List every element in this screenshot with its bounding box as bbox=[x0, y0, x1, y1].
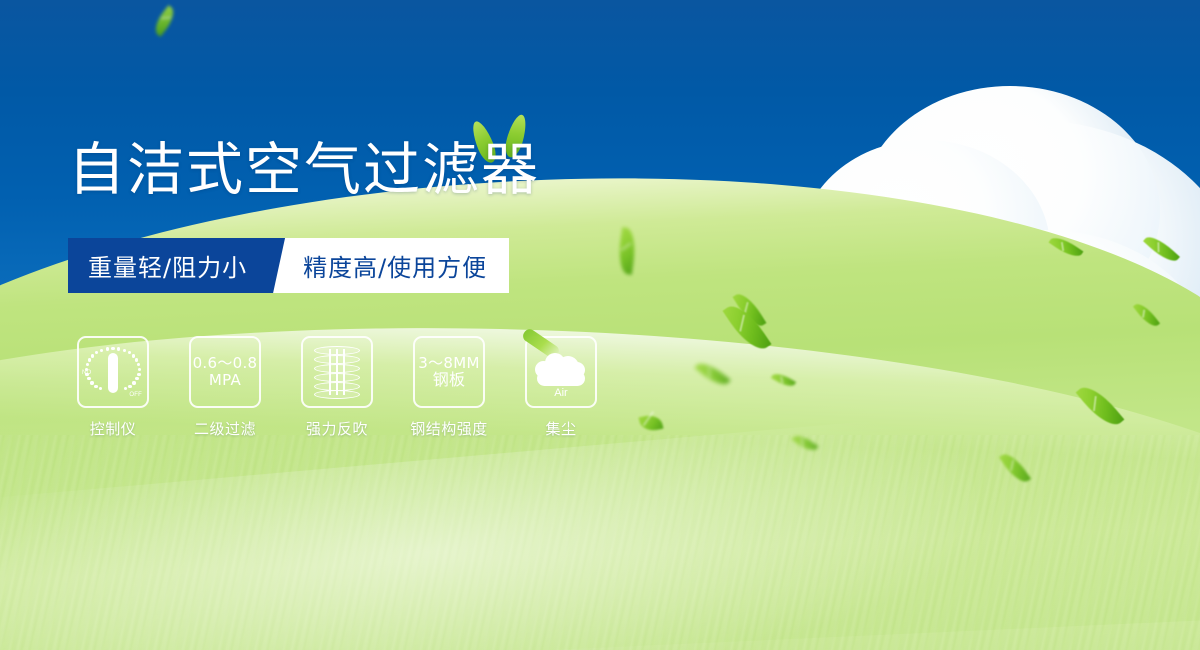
page-title: 自洁式空气过滤器 bbox=[68, 142, 540, 199]
feature-caption: 钢结构强度 bbox=[410, 418, 488, 439]
air-cloud-icon: Air bbox=[533, 349, 589, 395]
pressure-value-line2: MPA bbox=[209, 372, 241, 389]
subtitle-divider bbox=[273, 238, 299, 293]
feature-icon-box: NO OFF bbox=[77, 336, 149, 408]
feature-caption: 强力反吹 bbox=[306, 418, 368, 439]
feature-icon-box bbox=[301, 336, 373, 408]
subtitle-bar: 重量轻/阻力小 精度高/使用方便 bbox=[68, 238, 509, 293]
feature-icon-box: Air bbox=[525, 336, 597, 408]
subtitle-right: 精度高/使用方便 bbox=[299, 238, 509, 293]
feature-item-controller: NO OFF 控制仪 bbox=[68, 336, 158, 439]
gauge-icon: NO OFF bbox=[83, 343, 143, 401]
pressure-value-line1: 0.6～0.8 bbox=[193, 355, 258, 372]
feature-caption: 二级过滤 bbox=[194, 418, 256, 439]
cloud-base bbox=[537, 371, 585, 386]
feature-item-pressure: 0.6～0.8 MPA 二级过滤 bbox=[180, 336, 270, 439]
air-label: Air bbox=[533, 387, 589, 399]
product-banner: 自洁式空气过滤器 重量轻/阻力小 精度高/使用方便 bbox=[0, 0, 1200, 650]
gauge-label-no: NO bbox=[82, 370, 91, 376]
feature-item-steel: 3～8MM 钢板 钢结构强度 bbox=[404, 336, 494, 439]
steel-value-line1: 3～8MM bbox=[418, 355, 479, 372]
filter-stack-icon bbox=[314, 346, 360, 398]
feature-item-dust: Air 集尘 bbox=[516, 336, 606, 439]
feature-icon-box: 3～8MM 钢板 bbox=[413, 336, 485, 408]
feature-caption: 集尘 bbox=[545, 418, 576, 439]
steel-value-line2: 钢板 bbox=[433, 371, 466, 389]
subtitle-left: 重量轻/阻力小 bbox=[68, 238, 273, 293]
feature-icon-box: 0.6～0.8 MPA bbox=[189, 336, 261, 408]
feature-list: NO OFF 控制仪 0.6～0.8 MPA 二级过滤 bbox=[68, 336, 606, 439]
gauge-label-off: OFF bbox=[129, 392, 142, 398]
feature-caption: 控制仪 bbox=[90, 418, 137, 439]
feature-item-blowback: 强力反吹 bbox=[292, 336, 382, 439]
gauge-needle bbox=[108, 353, 118, 393]
